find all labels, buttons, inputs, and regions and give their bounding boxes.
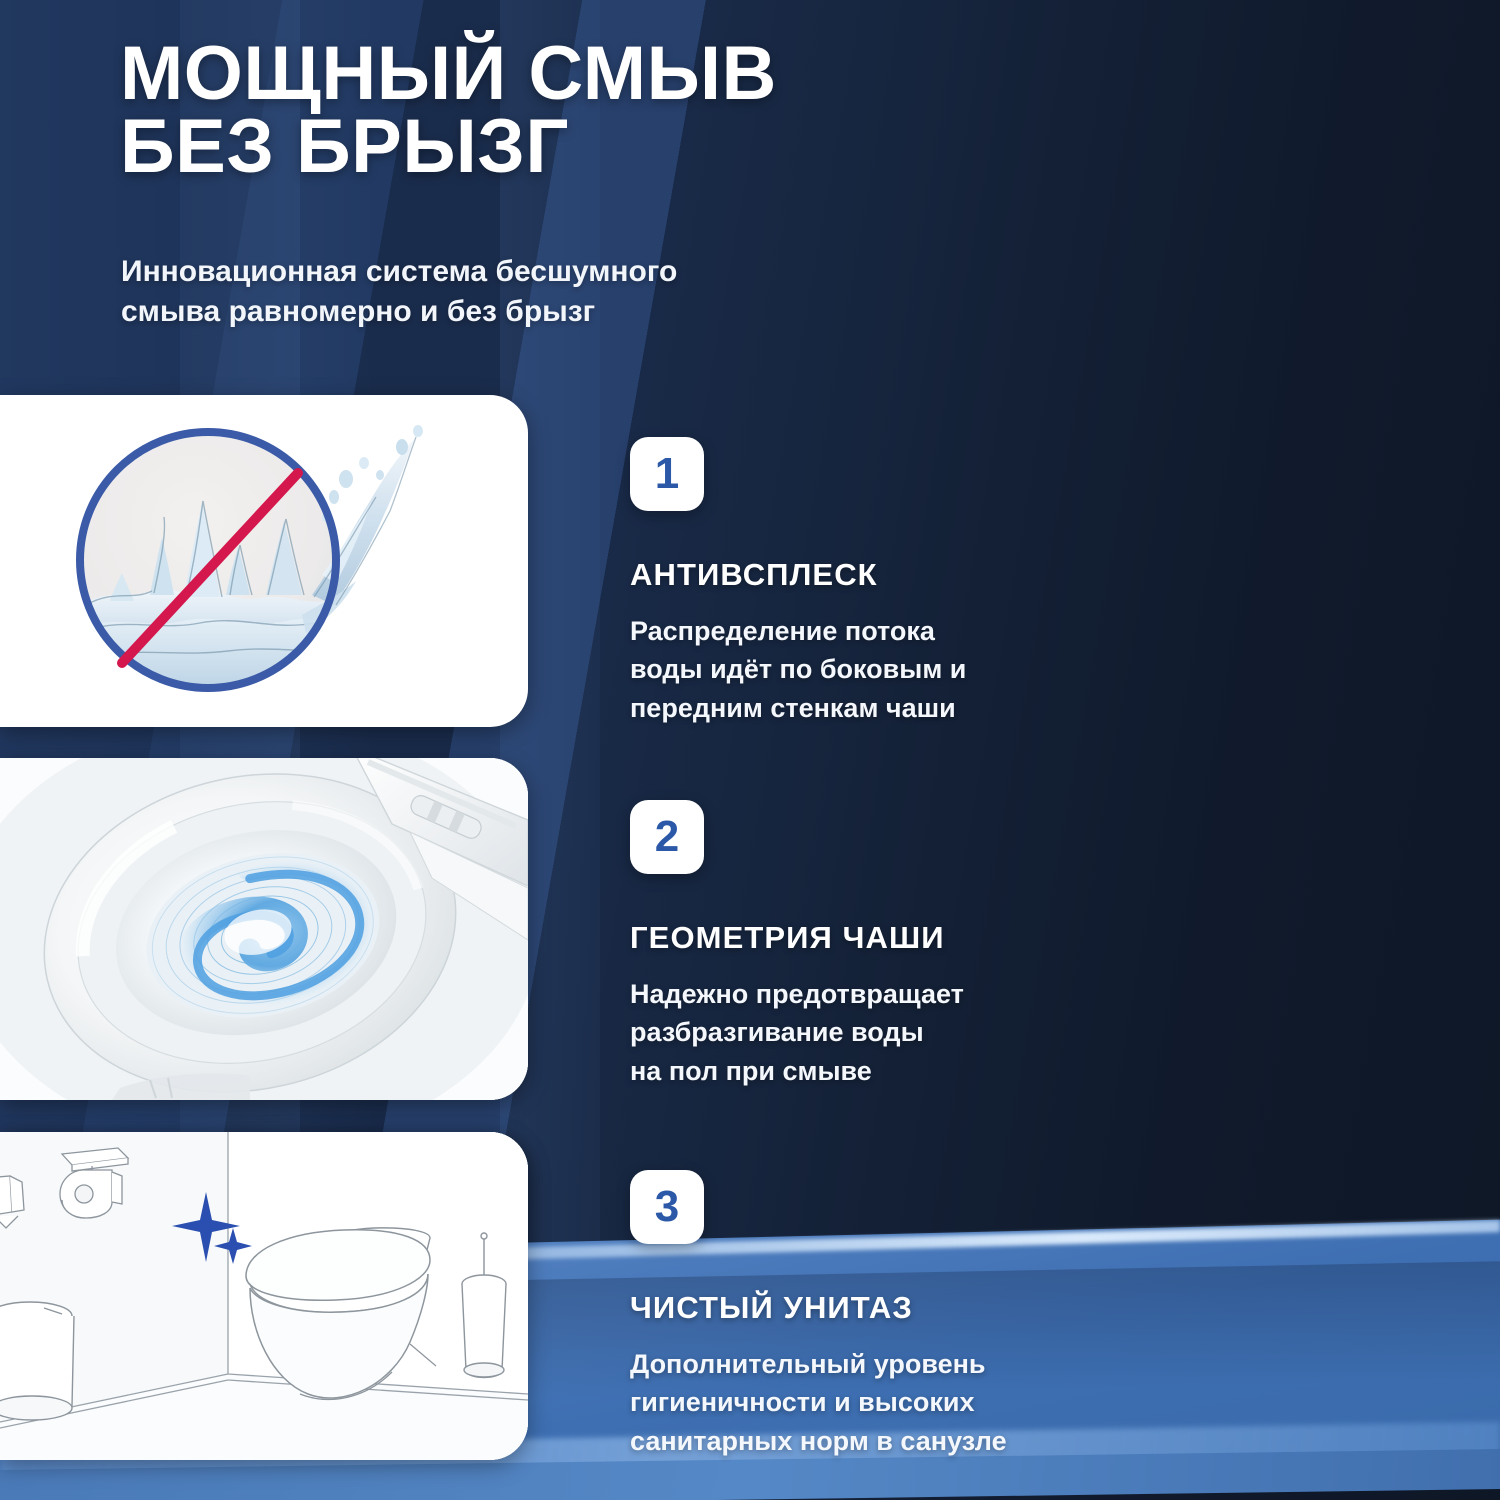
feature-block-2: 2 ГЕОМЕТРИЯ ЧАШИ Надежно предотвращает р… [630, 800, 1100, 1090]
feature-body-2: Надежно предотвращает разбразгивание вод… [630, 975, 1100, 1090]
feature-image-card-1 [0, 395, 528, 727]
feature-block-3: 3 ЧИСТЫЙ УНИТАЗ Дополнительный уровень г… [630, 1170, 1100, 1460]
trash-bin-icon [0, 1302, 74, 1420]
feature-title-2: ГЕОМЕТРИЯ ЧАШИ [630, 920, 1100, 956]
feature-body-1: Распределение потока воды идёт по боковы… [630, 612, 1100, 727]
toilet-bowl-vortex-photo [0, 758, 528, 1100]
step-badge-3: 3 [630, 1170, 704, 1244]
water-splash-prohibited-icon [50, 405, 470, 715]
feature-body-3: Дополнительный уровень гигиеничности и в… [630, 1345, 1100, 1460]
feature-title-1: АНТИВСПЛЕСК [630, 557, 1100, 593]
feature-block-1: 1 АНТИВСПЛЕСК Распределение потока воды … [630, 437, 1100, 727]
page-title: МОЩНЫЙ СМЫВ БЕЗ БРЫЗГ [120, 38, 940, 184]
feature-image-card-3-overlay [0, 1132, 528, 1460]
clean-bathroom-line-art-overlay [0, 1132, 528, 1460]
feature-title-3: ЧИСТЫЙ УНИТАЗ [630, 1290, 1100, 1326]
infographic-page: МОЩНЫЙ СМЫВ БЕЗ БРЫЗГ Инновационная сист… [0, 0, 1500, 1500]
page-subtitle: Инновационная система бесшумного смыва р… [121, 252, 881, 332]
feature-image-card-2 [0, 758, 528, 1100]
step-badge-2: 2 [630, 800, 704, 874]
step-badge-1: 1 [630, 437, 704, 511]
